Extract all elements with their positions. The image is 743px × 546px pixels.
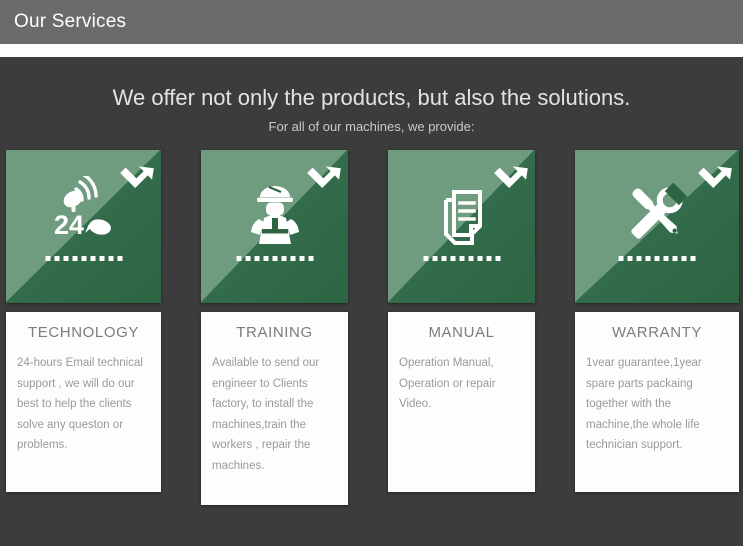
tile-dashed-rule — [236, 256, 313, 261]
service-title: TECHNOLOGY — [15, 324, 152, 341]
service-card-training[interactable]: TRAINING Available to send our engineer … — [201, 150, 348, 505]
page-header: Our Services — [0, 0, 743, 44]
tile-dashed-rule — [619, 256, 696, 261]
satellite-24-support-icon: 24 — [48, 176, 120, 250]
service-description: 24-hours Email technical support , we wi… — [15, 353, 152, 456]
service-icon-tile — [388, 150, 535, 303]
service-card-technology[interactable]: 24 TECHNOLOGY 24-hours Email technical s… — [6, 150, 161, 492]
service-description: Operation Manual, Operation or repair Vi… — [397, 353, 526, 415]
service-text-panel: TRAINING Available to send our engineer … — [201, 312, 348, 505]
service-description: 1vear guarantee,1year spare parts packai… — [584, 353, 730, 456]
service-icon-tile — [201, 150, 348, 303]
page-title: Our Services — [0, 11, 126, 33]
service-text-panel: TECHNOLOGY 24-hours Email technical supp… — [6, 312, 161, 492]
documents-pages-icon — [426, 176, 498, 250]
services-card-row: 24 TECHNOLOGY 24-hours Email technical s… — [6, 150, 739, 505]
service-card-manual[interactable]: MANUAL Operation Manual, Operation or re… — [388, 150, 535, 492]
service-text-panel: WARRANTY 1vear guarantee,1year spare par… — [575, 312, 739, 492]
tile-dashed-rule — [423, 256, 500, 261]
service-title: TRAINING — [210, 324, 339, 341]
bent-arrow-up-right-icon — [120, 156, 154, 190]
intro-section: We offer not only the products, but also… — [0, 57, 743, 134]
service-text-panel: MANUAL Operation Manual, Operation or re… — [388, 312, 535, 492]
service-title: WARRANTY — [584, 324, 730, 341]
service-title: MANUAL — [397, 324, 526, 341]
header-divider — [0, 44, 743, 57]
bent-arrow-up-right-icon — [698, 156, 732, 190]
service-icon-tile — [575, 150, 739, 303]
wrench-screwdriver-icon — [621, 176, 693, 250]
bent-arrow-up-right-icon — [307, 156, 341, 190]
svg-text:24: 24 — [54, 210, 84, 240]
worker-helmet-icon — [239, 176, 311, 250]
intro-headline: We offer not only the products, but also… — [0, 57, 743, 110]
intro-subline: For all of our machines, we provide: — [0, 110, 743, 134]
service-card-warranty[interactable]: WARRANTY 1vear guarantee,1year spare par… — [575, 150, 739, 492]
service-description: Available to send our engineer to Client… — [210, 353, 339, 476]
tile-dashed-rule — [45, 256, 122, 261]
service-icon-tile: 24 — [6, 150, 161, 303]
bent-arrow-up-right-icon — [494, 156, 528, 190]
